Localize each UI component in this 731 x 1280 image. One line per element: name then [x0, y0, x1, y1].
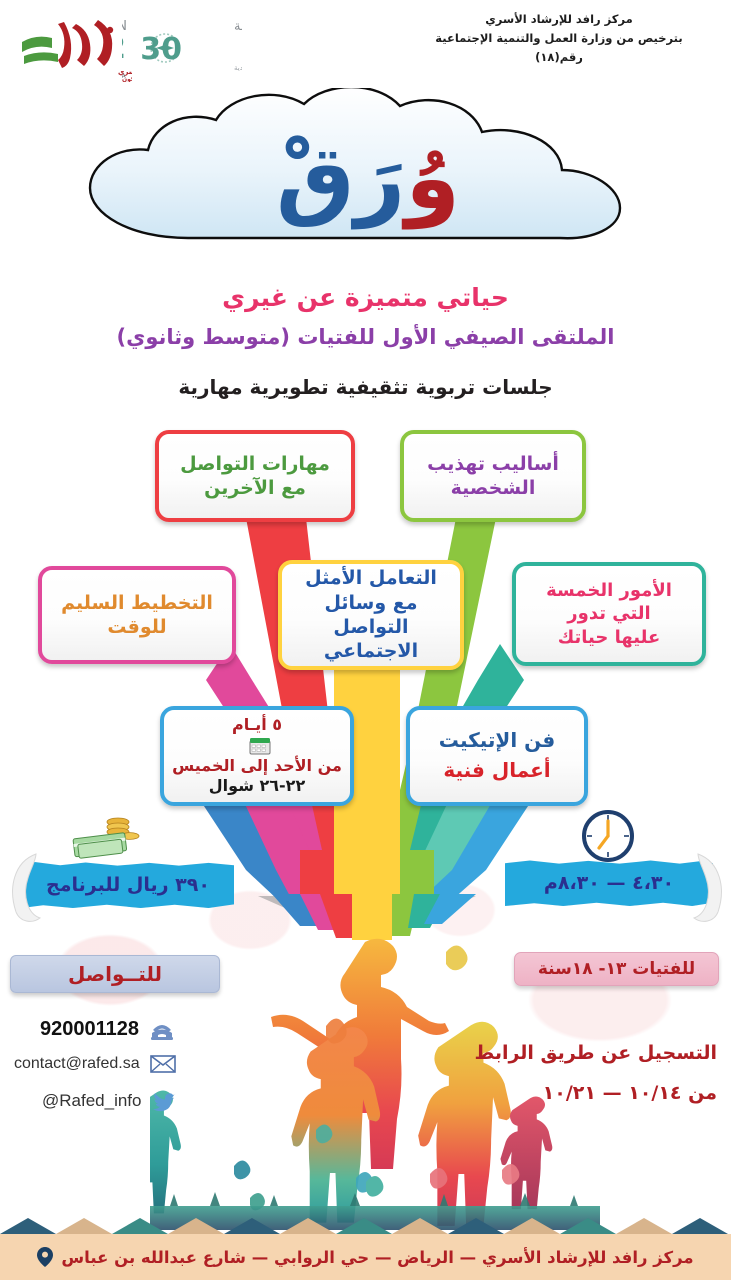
contact-twitter-row[interactable]: @Rafed_info: [42, 1090, 178, 1112]
contact-email-address: contact@rafed.sa: [14, 1055, 140, 1073]
contact-email-row[interactable]: contact@rafed.sa: [14, 1054, 176, 1074]
paper-curl-right: [684, 852, 728, 924]
topic-box-communication-skills[interactable]: مهارات التواصل مع الآخرين: [155, 430, 355, 522]
price-banner: ٣٩٠ ريال للبرنامج: [22, 862, 234, 908]
contact-phone-row[interactable]: 920001128: [40, 1018, 175, 1041]
topic-box-etiquette-art[interactable]: فن الإتيكيت أعمال فنية: [406, 706, 588, 806]
org-line-1: مركز رافد للإرشاد الأسري: [409, 10, 709, 29]
cloud-word: وُرَقْ: [276, 126, 460, 229]
organization-info: مركز رافد للإرشاد الأسري بترخيص من وزارة…: [409, 10, 709, 67]
footer-address-text: مركز رافد للإرشاد الأسري — الرياض — حي ا…: [61, 1248, 693, 1267]
topic-line: التي تدور: [546, 602, 672, 625]
schedule-days-count: ٥ أيـام: [172, 715, 342, 735]
time-banner: ٤،٣٠ — ٨،٣٠م: [505, 860, 713, 906]
schedule-line-2: من الأحد إلى الخميس: [172, 756, 342, 776]
footer-triangle-strip: [0, 1218, 731, 1234]
schedule-box[interactable]: ٥ أيـام من الأحد إلى الخميس ٢٢-٢٦ شوال: [160, 706, 354, 806]
contact-twitter-handle: @Rafed_info: [42, 1091, 142, 1111]
subtitle-secondary: جلسات تربوية تثقيفية تطويرية مهارية: [0, 375, 731, 399]
topic-box-personality-refinement[interactable]: أساليب تهذيب الشخصية: [400, 430, 586, 522]
topic-line: الاجتماعي: [290, 639, 452, 663]
svg-text:30: 30: [140, 32, 182, 67]
topic-line: الأمور الخمسة: [546, 579, 672, 602]
envelope-icon: [150, 1054, 176, 1074]
schedule-line-3: ٢٢-٢٦ شوال: [172, 776, 342, 796]
topic-box-five-life-matters[interactable]: الأمور الخمسة التي تدور عليها حياتك: [512, 562, 706, 666]
tagline: حياتي متميزة عن غيري: [0, 283, 731, 312]
etiquette-line-1: فن الإتيكيت: [439, 728, 555, 754]
org-line-3: رقم(١٨): [409, 48, 709, 67]
schedule-line-1: ٥ أيـام: [172, 715, 342, 756]
paper-curl-left: [6, 852, 50, 924]
twitter-bird-icon: [152, 1090, 178, 1112]
vision-2030-logo: VISION رؤيــة 2 30 المملكة العربية السعو…: [122, 12, 242, 82]
topic-line: التخطيط السليم: [61, 591, 213, 615]
poster-header: للإرشاد الأسري نهتم بالفرد قبل أن يتكون …: [0, 0, 731, 92]
topic-line: التعامل الأمثل: [290, 566, 452, 590]
time-text: ٤،٣٠ — ٨،٣٠م: [544, 872, 674, 894]
telephone-icon: [149, 1019, 175, 1041]
topic-line: مع وسائل التواصل: [290, 591, 452, 640]
subtitle-primary: الملتقى الصيفي الأول للفتيات (متوسط وثان…: [0, 325, 731, 349]
registration-line-2: من ١٠/١٤ — ١٠/٢١: [467, 1082, 717, 1104]
topic-box-time-planning[interactable]: التخطيط السليم للوقت: [38, 566, 236, 664]
topic-line: للوقت: [61, 615, 213, 639]
age-badge: للفتيات ١٣- ١٨سنة: [514, 952, 719, 986]
location-pin-icon: [37, 1247, 53, 1267]
rafed-logo: للإرشاد الأسري نهتم بالفرد قبل أن يتكون: [14, 12, 132, 82]
svg-text:رؤيــة: رؤيــة: [234, 19, 242, 34]
footer-address-bar: مركز رافد للإرشاد الأسري — الرياض — حي ا…: [0, 1234, 731, 1280]
cloud-word-wrap: وُرَقْ: [68, 88, 668, 273]
svg-text:2: 2: [122, 31, 126, 66]
topic-line: عليها حياتك: [546, 626, 672, 649]
svg-text:المملكة العربية السعودية: المملكة العربية السعودية: [234, 64, 242, 72]
svg-text:KINGDOM OF SAUDI ARABIA: KINGDOM OF SAUDI ARABIA: [122, 73, 127, 80]
calendar-icon: [249, 737, 271, 755]
topic-line: أساليب تهذيب: [427, 452, 559, 476]
topic-line: مهارات التواصل: [180, 452, 330, 476]
contact-phone-number: 920001128: [40, 1018, 139, 1041]
cloud-word-blue: رَقْ: [276, 126, 405, 229]
clock-icon: [580, 808, 636, 864]
topic-line: مع الآخرين: [180, 476, 330, 500]
etiquette-line-2: أعمال فنية: [439, 758, 555, 784]
topic-line: الشخصية: [427, 476, 559, 500]
money-icon: [68, 812, 140, 864]
contact-heading: للتــواصل: [10, 955, 220, 993]
cloud-title-container: وُرَقْ: [68, 88, 668, 273]
cloud-word-red: وُ: [405, 126, 460, 229]
topic-box-social-media[interactable]: التعامل الأمثل مع وسائل التواصل الاجتماع…: [278, 560, 464, 670]
registration-line-1: التسجيل عن طريق الرابط: [467, 1042, 717, 1064]
price-text: ٣٩٠ ريال للبرنامج: [46, 874, 210, 896]
org-line-2: بترخيص من وزارة العمل والتنمية الإجتماعي…: [409, 29, 709, 48]
